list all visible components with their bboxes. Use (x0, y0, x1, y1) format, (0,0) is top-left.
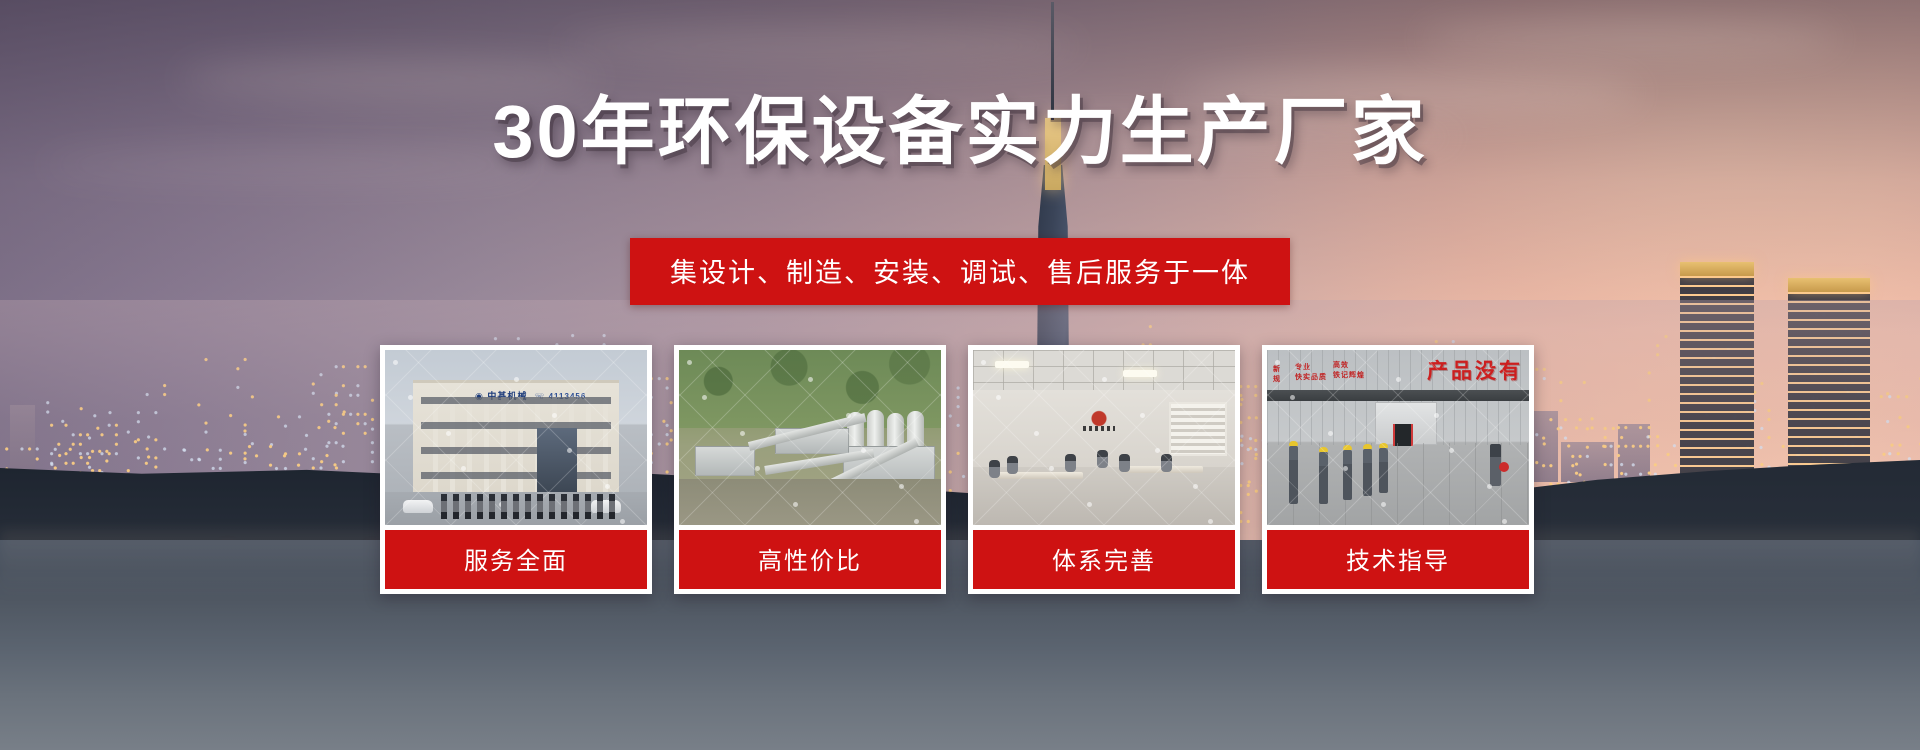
card-label: 体系完善 (973, 530, 1235, 589)
staff-member (609, 494, 615, 519)
parked-car (591, 500, 621, 513)
feature-card[interactable]: 体系完善 (968, 345, 1240, 594)
worker (1319, 452, 1328, 504)
subtitle-ribbon: 集设计、制造、安装、调试、售后服务于一体 (630, 238, 1290, 305)
worker (1343, 450, 1352, 500)
factory-banner-text: 产品没有 (1427, 355, 1523, 385)
safety-helmet-icon (1289, 441, 1298, 446)
hero-banner: 30年环保设备实力生产厂家 集设计、制造、安装、调试、售后服务于一体 ◉ 中基机… (0, 0, 1920, 750)
watermark-dot (393, 360, 398, 365)
feature-card[interactable]: 高性价比 (674, 345, 946, 594)
staff-member (561, 494, 567, 519)
page-title: 30年环保设备实力生产厂家 (492, 95, 1427, 169)
feature-card[interactable]: 产品没有 新规 专业快实品质 高效铁记辉煌 (1262, 345, 1534, 594)
safety-helmet-icon (1343, 445, 1352, 450)
office-building: ◉ 中基机械 ☏ 4113456 (413, 380, 619, 492)
cloud (1420, 20, 1840, 58)
staff-member (549, 494, 555, 519)
worker (1379, 448, 1388, 493)
wall-logo (1081, 408, 1117, 438)
factory-slogan: 高效铁记辉煌 (1333, 360, 1365, 380)
staff-member (477, 494, 483, 519)
seated-employee (1097, 450, 1108, 468)
safety-helmet-icon (1363, 444, 1372, 449)
worker (1363, 449, 1372, 496)
staff-member (525, 494, 531, 519)
card-label: 服务全面 (385, 530, 647, 589)
red-helmet-icon (1499, 462, 1509, 472)
staff-member (489, 494, 495, 519)
card-photo-office (973, 350, 1235, 525)
feature-card[interactable]: ◉ 中基机械 ☏ 4113456 服务全面 (380, 345, 652, 594)
card-label: 高性价比 (679, 530, 941, 589)
staff-member (465, 494, 471, 519)
staff-member (441, 494, 447, 519)
seated-employee (1007, 456, 1018, 474)
seated-employee (989, 460, 1000, 478)
building-windows (421, 397, 611, 492)
card-photo-workers: 产品没有 新规 专业快实品质 高效铁记辉煌 (1267, 350, 1529, 525)
staff-member (597, 494, 603, 519)
ceiling-light (1123, 370, 1157, 377)
factory-slogan: 专业快实品质 (1295, 362, 1327, 382)
card-photo-headquarters: ◉ 中基机械 ☏ 4113456 (385, 350, 647, 525)
feature-card-row: ◉ 中基机械 ☏ 4113456 服务全面 (380, 345, 1540, 594)
building-entrance (537, 428, 577, 492)
staff-member (453, 494, 459, 519)
seated-employee (1065, 454, 1076, 472)
staff-member (585, 494, 591, 519)
staff-member (537, 494, 543, 519)
ceiling-light (995, 361, 1029, 368)
safety-helmet-icon (1379, 443, 1388, 448)
office-window-blinds (1169, 402, 1227, 456)
parked-car (403, 500, 433, 513)
watermark-dot (755, 466, 760, 471)
card-photo-plant (679, 350, 941, 525)
cloud (560, 28, 1080, 64)
staff-member (573, 494, 579, 519)
staff-member (513, 494, 519, 519)
card-label: 技术指导 (1267, 530, 1529, 589)
subtitle-block: 集设计、制造、安装、调试、售后服务于一体 (0, 238, 1920, 305)
seated-employee (1161, 454, 1172, 472)
plant-yard (679, 479, 941, 525)
worker (1289, 446, 1298, 504)
headline-block: 30年环保设备实力生产厂家 (0, 95, 1920, 169)
safety-helmet-icon (1319, 447, 1328, 452)
seated-employee (1119, 454, 1130, 472)
ceiling-grid (973, 350, 1235, 390)
staff-member (501, 494, 507, 519)
factory-slogan: 新规 (1273, 364, 1281, 384)
watermark-dot (740, 431, 745, 436)
factory-shed (695, 446, 755, 476)
facade-window-strip (1267, 390, 1529, 401)
